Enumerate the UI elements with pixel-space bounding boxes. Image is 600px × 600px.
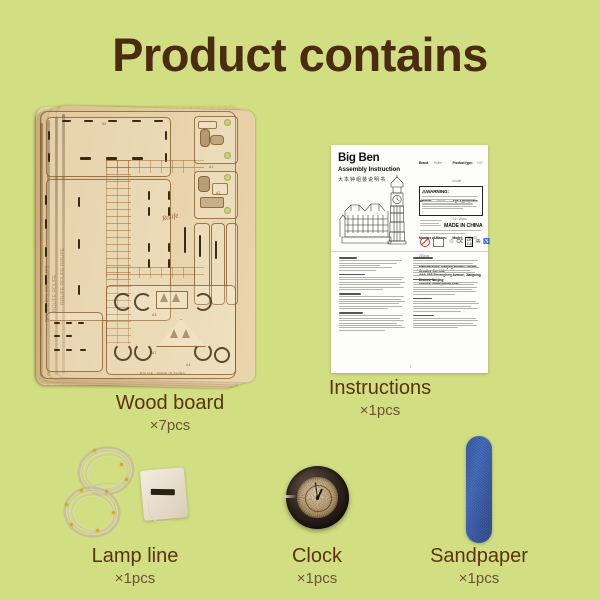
led-bead [65, 503, 68, 506]
cut-small-part [200, 129, 210, 147]
cut-slot [132, 120, 141, 122]
cut-slot [54, 349, 60, 351]
cut-slot [148, 207, 150, 216]
led-bead [80, 489, 83, 492]
led-bead [93, 449, 96, 452]
page-title: Product contains [0, 27, 600, 82]
cut-triangle [170, 329, 178, 338]
fsc-icon: ✇ [476, 239, 481, 245]
spec-row: Brand: Rolife Product type: DIY model [419, 151, 483, 187]
instruction-sheet: Big Ben Assembly Instruction 大本钟组装说明书 [331, 145, 488, 373]
cut-arch-part [134, 293, 152, 311]
cut-slot [215, 241, 217, 259]
cut-slot [78, 322, 84, 324]
battery-lead-wire [148, 498, 173, 523]
cut-slot [62, 120, 71, 122]
plywood-sheet-front: Rolife A [36, 107, 242, 385]
led-bead [112, 511, 115, 514]
cut-slot [45, 275, 47, 285]
cut-slot [45, 303, 47, 313]
instruction-text-column-right [413, 257, 481, 330]
battery-switch [151, 489, 175, 495]
clock-face [297, 477, 338, 518]
cutout-hole [224, 119, 231, 126]
instruction-subtitle: Assembly Instruction [338, 166, 416, 173]
cut-slot [54, 335, 60, 337]
instruction-text-column-left [339, 257, 407, 332]
cut-slot [148, 243, 150, 252]
cut-slot [66, 322, 72, 324]
cut-slot [165, 131, 167, 140]
part-number-label: A7 [152, 351, 157, 355]
cut-slot [54, 322, 60, 324]
spec-key: Product type: [453, 161, 474, 165]
sandpaper-caption: Sandpaper ×1pcs [369, 545, 589, 588]
sandpaper-label: Sandpaper [369, 545, 589, 568]
cut-slot [48, 131, 50, 140]
spec-value: 14+ years [453, 217, 467, 221]
cut-small-part [198, 176, 210, 192]
wheelie-bin-icon: ♿ [483, 239, 490, 245]
warning-pictogram-icon [433, 238, 444, 247]
cut-slot [148, 259, 150, 268]
engraved-brick-band-top [106, 160, 204, 173]
cut-slot [78, 197, 80, 207]
small-print-block [420, 229, 482, 234]
engraved-brick-band-bottom [106, 267, 204, 278]
cut-slot [168, 259, 170, 268]
big-ben-line-art [339, 175, 415, 247]
part-number-label: A3 [152, 313, 157, 317]
cut-slot [148, 191, 150, 200]
led-bead [105, 490, 108, 493]
cut-slot [45, 219, 47, 229]
part-number-label: A1 [209, 165, 214, 169]
product-contains-infographic: Product contains ROLIFE ROLIFE ROLIFE RO… [0, 0, 600, 600]
cut-arch-part [214, 347, 230, 363]
instruction-title: Big Ben [338, 152, 416, 164]
clock-image [286, 466, 349, 529]
cutout-hole [224, 152, 231, 159]
led-bead [96, 529, 99, 532]
cut-slot [108, 120, 117, 122]
cut-slot [168, 243, 170, 252]
cut-slot [184, 227, 186, 253]
cut-arch-part [194, 293, 212, 311]
cut-slot [78, 239, 80, 249]
cut-slot [84, 120, 93, 122]
cut-slot [154, 120, 163, 122]
part-number-label: A5 [102, 122, 107, 126]
cut-slot [80, 157, 91, 160]
no-fire-icon [420, 237, 430, 247]
part-number-label: A4 [186, 363, 191, 367]
led-bead [125, 478, 128, 481]
cut-slot [48, 153, 50, 162]
small-print-block [420, 219, 442, 226]
sandpaper-quantity: ×1pcs [369, 569, 589, 588]
instructions-quantity: ×1pcs [270, 401, 490, 420]
clock-rim-highlight [285, 495, 297, 498]
cut-slot [45, 195, 47, 205]
cut-slot [45, 247, 47, 257]
cut-triangle [182, 329, 190, 338]
certification-row: ♲ C€ UKCA ✇ ♿ [420, 237, 490, 247]
instructions-caption: Instructions ×1pcs [270, 377, 490, 420]
spec-value: Rolife [434, 161, 442, 165]
cutout-hole [224, 174, 231, 181]
led-bead [70, 523, 73, 526]
cut-small-part [198, 121, 217, 129]
recycle-icon: ♲ [449, 239, 454, 245]
page-number: 1 [410, 365, 412, 369]
cut-slot [80, 349, 86, 351]
cut-slot [168, 191, 170, 200]
ukca-mark-icon: UKCA [465, 237, 473, 247]
wood-board-image: ROLIFE ROLIFE ROLIFE ROLIFE ROLIFE ROLIF… [36, 107, 276, 392]
cut-small-part [200, 197, 224, 208]
cut-slot [66, 335, 72, 337]
cutout-hole [224, 207, 231, 214]
instructions-label: Instructions [270, 377, 490, 400]
cut-triangle [172, 293, 180, 302]
wood-board-caption: Wood board ×7pcs [60, 392, 280, 435]
warning-title: ⚠WARNING: [422, 189, 480, 195]
part-number-label: A2 [216, 191, 221, 195]
lamp-line-image [62, 445, 212, 540]
clock-center-pin [316, 496, 319, 499]
cut-slot [66, 349, 72, 351]
wood-board-quantity: ×7pcs [60, 416, 280, 435]
led-bead [120, 463, 123, 466]
instructions-image: Big Ben Assembly Instruction 大本钟组装说明书 [331, 145, 488, 373]
spec-key: Brand: [419, 161, 429, 165]
cut-part-bottom-left [46, 312, 103, 372]
cut-arch-part [114, 343, 132, 361]
battery-box [140, 467, 188, 521]
cut-slot [199, 235, 201, 257]
sandpaper-image [466, 436, 492, 543]
warning-box: ⚠WARNING: [419, 186, 483, 216]
cut-triangle [160, 293, 168, 302]
cut-small-part [210, 135, 224, 145]
wood-board-label: Wood board [60, 392, 280, 415]
cut-arch-part [114, 293, 132, 311]
engraved-sheet-stamp: ROLIFE · MADE IN CHINA [140, 371, 185, 375]
ce-mark-icon: C€ [456, 239, 462, 245]
cut-arch-part [134, 343, 152, 361]
cut-slot [78, 285, 80, 295]
